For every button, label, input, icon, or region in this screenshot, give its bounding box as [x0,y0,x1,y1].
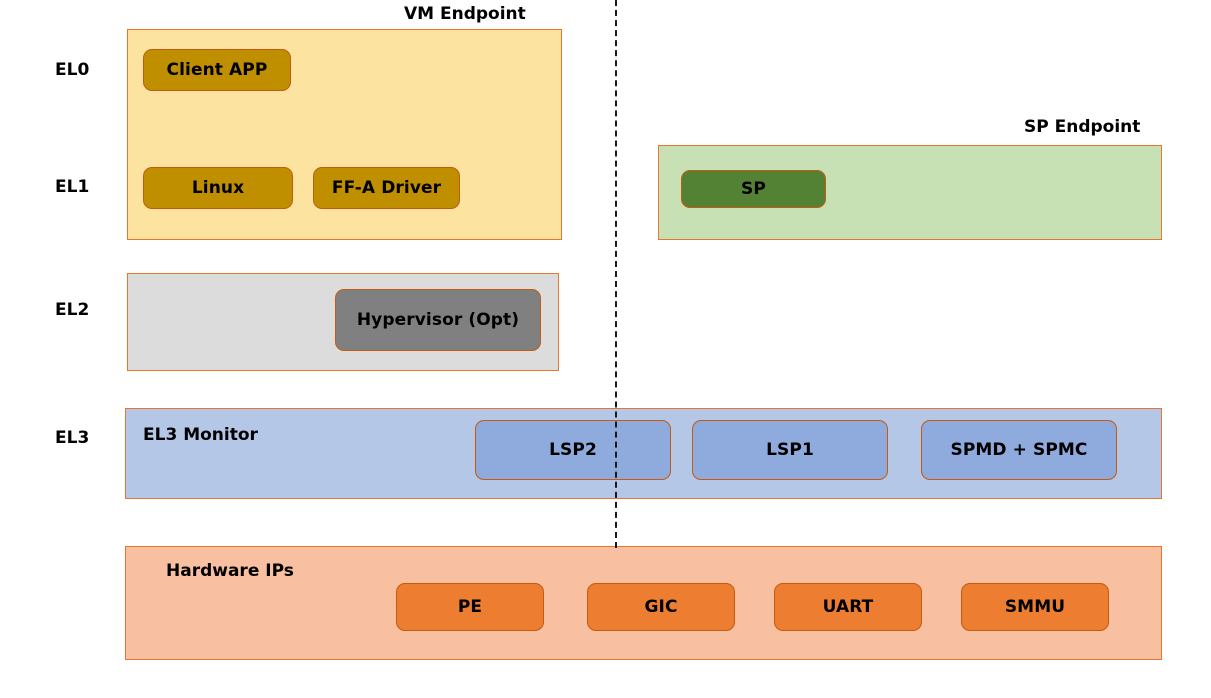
hardware-ips-lane-title: Hardware IPs [166,561,294,581]
exception-level-label-el1: EL1 [55,177,89,197]
pe-block: PE [396,583,544,631]
exception-level-label-el0: EL0 [55,60,89,80]
uart-block: UART [774,583,922,631]
exception-level-label-el3: EL3 [55,428,89,448]
endpoint-title-sp-endpoint: SP Endpoint [1024,117,1140,137]
spmd-spmc-block: SPMD + SPMC [921,420,1117,480]
exception-level-label-el2: EL2 [55,300,89,320]
client-app-block: Client APP [143,49,291,91]
lsp2-block: LSP2 [475,420,671,480]
ffa-driver-block: FF-A Driver [313,167,460,209]
linux-block: Linux [143,167,293,209]
sp-block: SP [681,170,826,208]
smmu-block: SMMU [961,583,1109,631]
lsp1-block: LSP1 [692,420,888,480]
gic-block: GIC [587,583,735,631]
hypervisor-block: Hypervisor (Opt) [335,289,541,351]
el3-monitor-lane-title: EL3 Monitor [143,425,258,445]
endpoint-title-vm-endpoint: VM Endpoint [404,4,526,24]
normal-secure-world-divider [615,0,617,548]
architecture-diagram: EL0EL1EL2EL3VM EndpointSP EndpointClient… [0,0,1211,698]
